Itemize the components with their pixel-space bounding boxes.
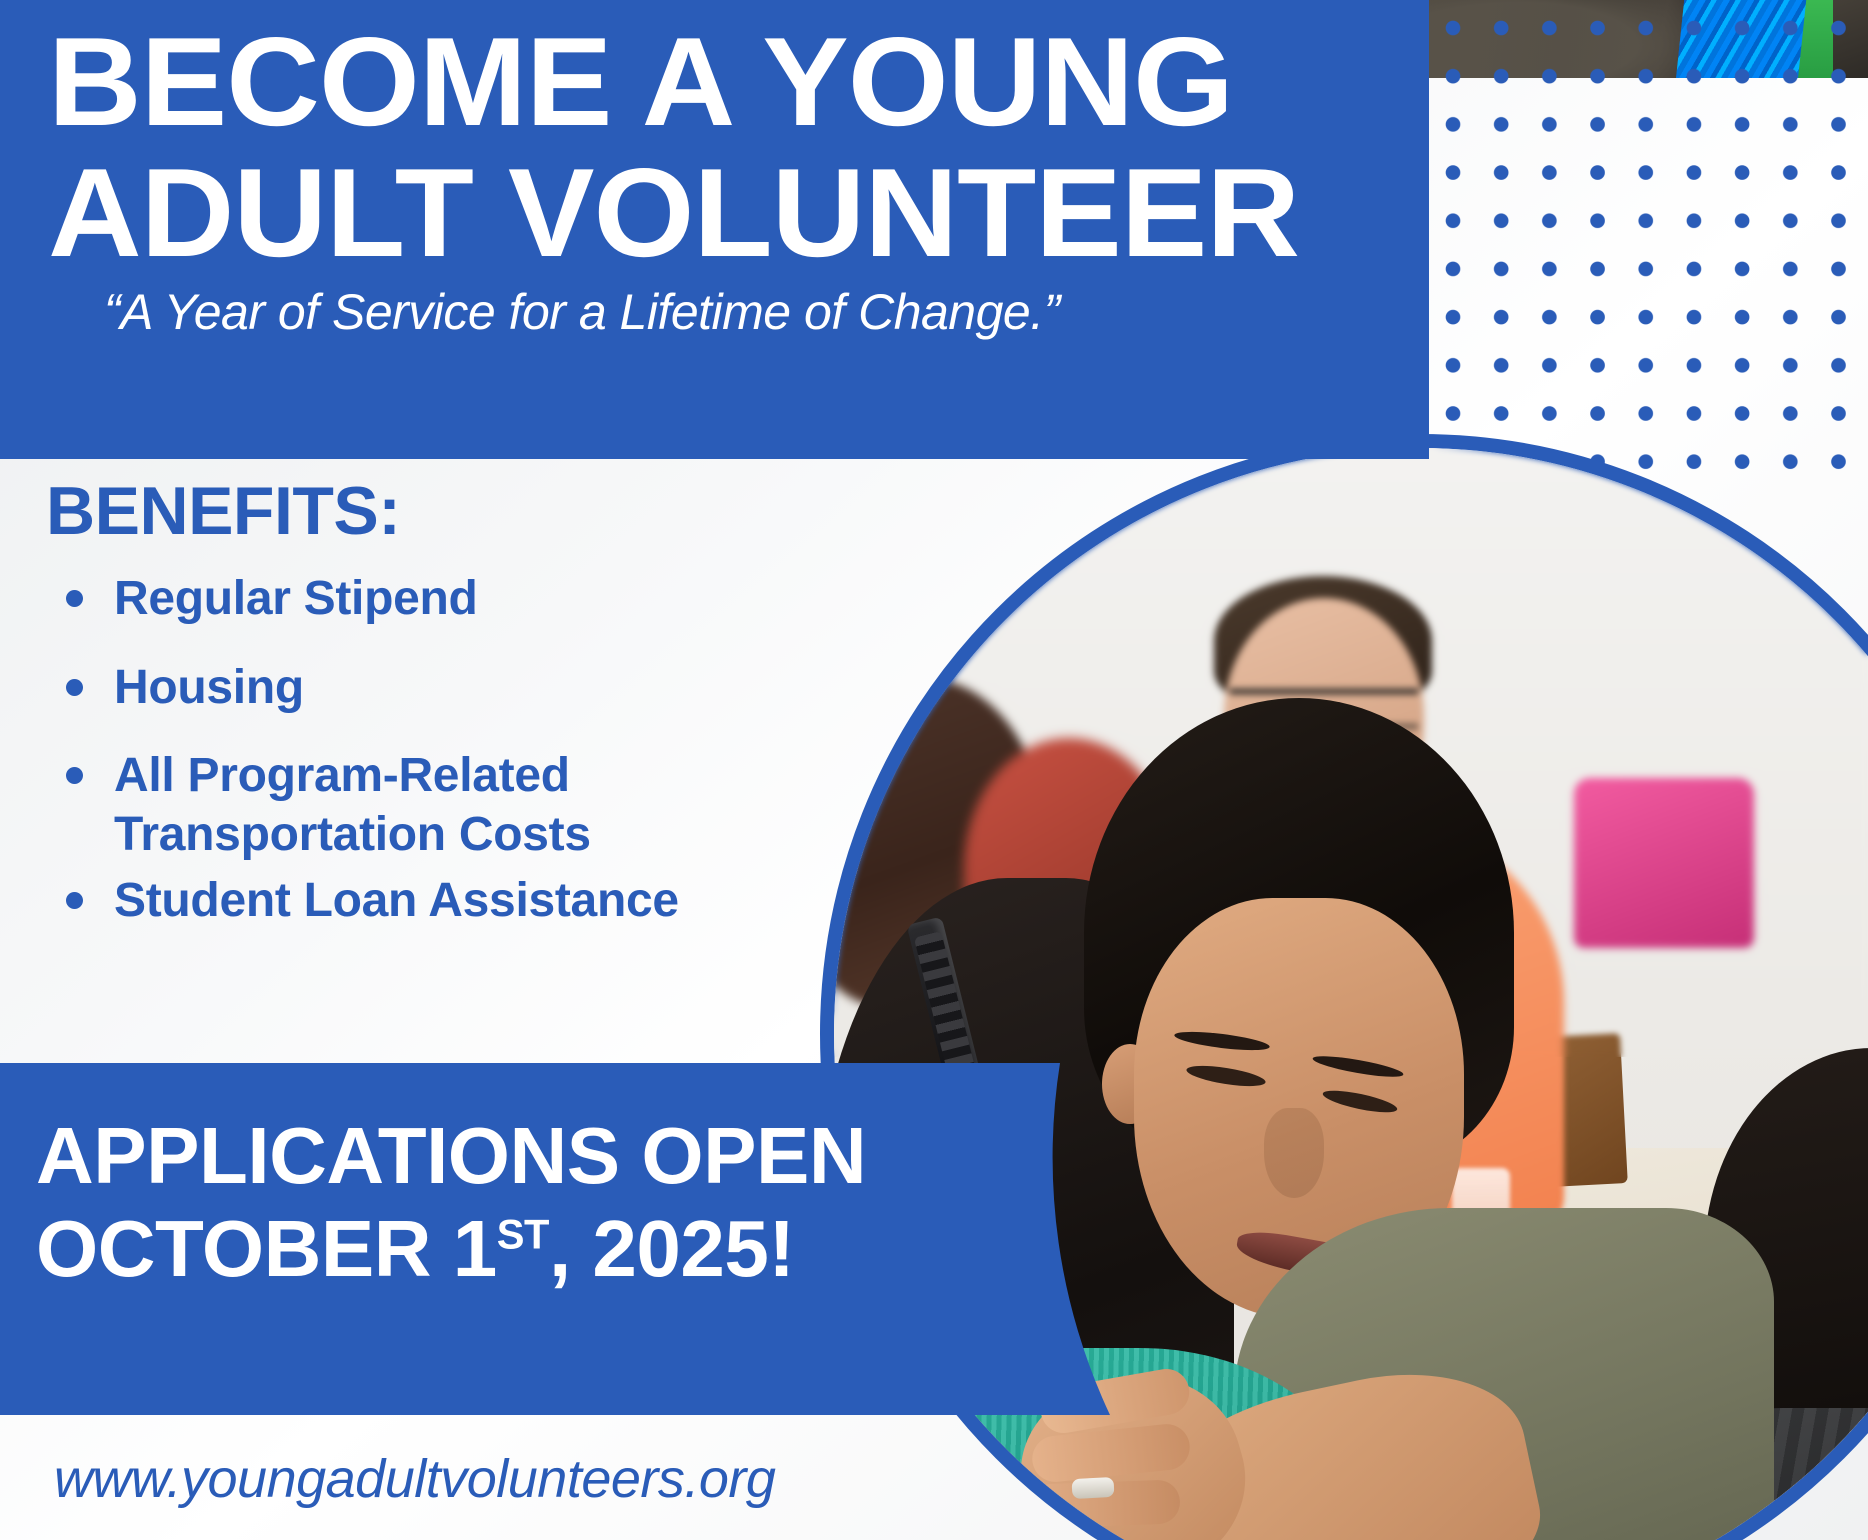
list-item: All Program-Related Transportation Costs xyxy=(60,747,850,864)
bullet-icon xyxy=(66,679,83,696)
announcement-line-2: OCTOBER 1ST, 2025! xyxy=(36,1203,866,1296)
photo-pink-bag xyxy=(1574,778,1754,948)
bullet-icon xyxy=(66,590,83,607)
benefits-section: BENEFITS: Regular Stipend Housing All Pr… xyxy=(0,460,860,1064)
benefit-label: Regular Stipend xyxy=(114,572,478,625)
photo-ring xyxy=(1072,1477,1115,1499)
headline-line-2: ADULT VOLUNTEER xyxy=(48,147,1428,278)
announcement-date-prefix: OCTOBER 1 xyxy=(36,1204,497,1293)
poster-canvas: BECOME A YOUNG ADULT VOLUNTEER “A Year o… xyxy=(0,0,1868,1540)
list-item: Student Loan Assistance xyxy=(60,872,850,931)
benefit-label: Housing xyxy=(114,661,304,714)
tagline: “A Year of Service for a Lifetime of Cha… xyxy=(104,283,1060,341)
benefit-label: All Program-Related Transportation Costs xyxy=(114,749,591,861)
circle-photo xyxy=(820,434,1868,1540)
bullet-icon xyxy=(66,767,83,784)
list-item: Regular Stipend xyxy=(60,570,850,629)
announcement-line-1: APPLICATIONS OPEN xyxy=(36,1110,866,1203)
blue-dot-grid xyxy=(1429,0,1868,496)
ordinal-suffix: ST xyxy=(497,1210,549,1257)
headline-line-1: BECOME A YOUNG xyxy=(48,16,1428,147)
photo-hugger-nose xyxy=(1264,1108,1324,1198)
benefit-label: Student Loan Assistance xyxy=(114,874,679,927)
announcement-text: APPLICATIONS OPEN OCTOBER 1ST, 2025! xyxy=(36,1110,866,1296)
circle-photo-inner xyxy=(834,448,1868,1540)
bullet-icon xyxy=(66,892,83,909)
benefits-heading: BENEFITS: xyxy=(46,472,400,550)
page-title: BECOME A YOUNG ADULT VOLUNTEER xyxy=(48,16,1428,278)
website-url[interactable]: www.youngadultvolunteers.org xyxy=(54,1448,775,1510)
benefits-list: Regular Stipend Housing All Program-Rela… xyxy=(60,570,850,961)
list-item: Housing xyxy=(60,659,850,718)
photo-jacket-logo xyxy=(1841,1458,1868,1492)
announcement-date-suffix: , 2025! xyxy=(549,1204,795,1293)
header-panel: BECOME A YOUNG ADULT VOLUNTEER “A Year o… xyxy=(0,0,1429,459)
